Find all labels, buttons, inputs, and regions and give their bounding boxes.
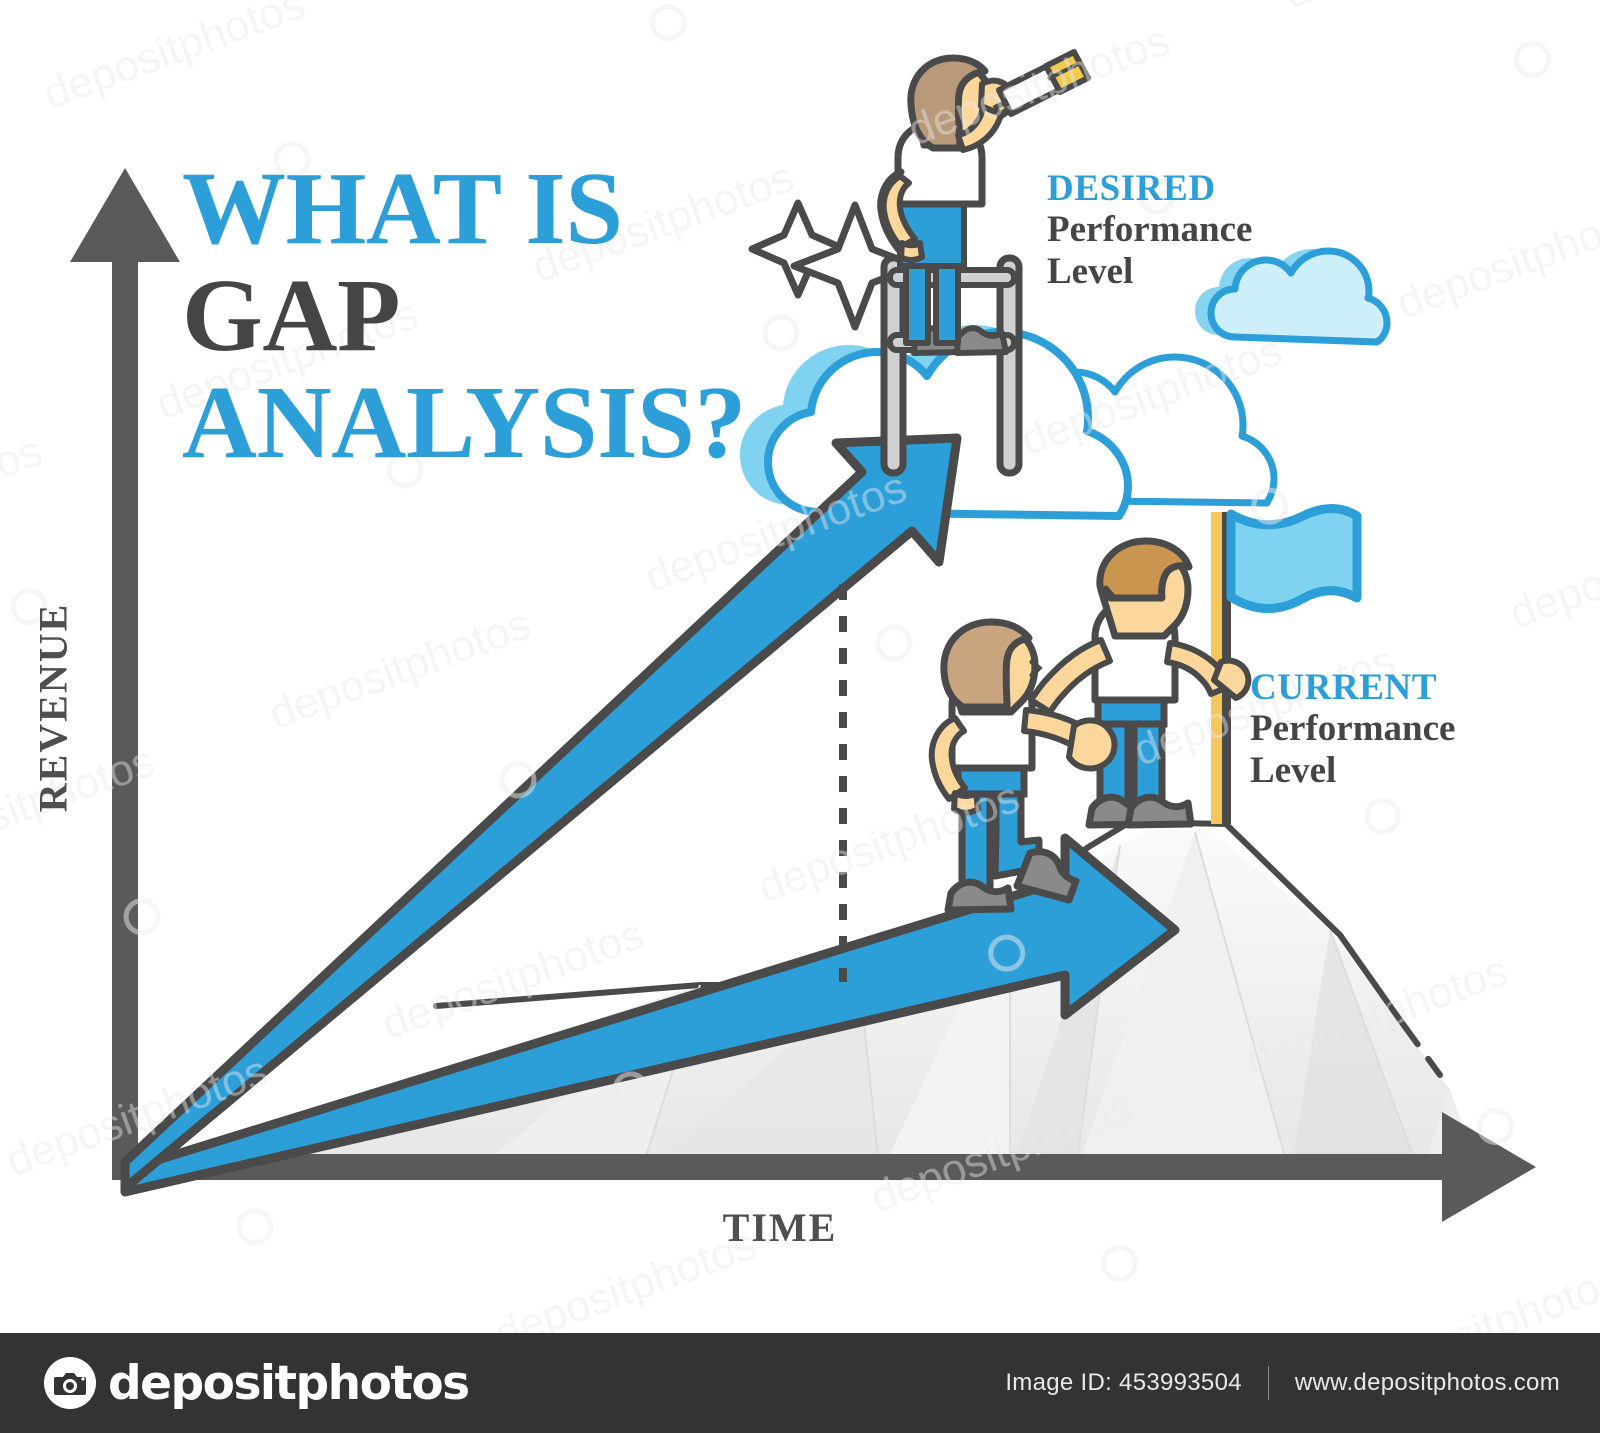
x-axis <box>112 1154 1462 1180</box>
callout-desired-sub-line1: Performance <box>1047 209 1337 250</box>
y-axis <box>112 230 138 1180</box>
footer-website[interactable]: www.depositphotos.com <box>1295 1369 1560 1397</box>
y-axis-arrowhead <box>70 168 180 262</box>
callout-current-sub-line1: Performance <box>1250 708 1540 749</box>
footer-wordmark: depositphotos <box>108 1356 469 1411</box>
title-line-3: ANALYSIS? <box>182 374 802 473</box>
callout-desired: DESIRED Performance Level <box>1047 168 1337 292</box>
callout-desired-sub-line2: Level <box>1047 251 1337 292</box>
title-line-1: WHAT IS <box>182 160 802 259</box>
x-axis-arrowhead <box>1442 1112 1536 1222</box>
footer-bar: depositphotos Image ID: 453993504 www.de… <box>0 1333 1600 1433</box>
footer-divider <box>1268 1366 1269 1400</box>
camera-icon <box>44 1357 96 1409</box>
callout-current-kicker: CURRENT <box>1250 667 1540 708</box>
title-line-2: GAP <box>182 267 802 366</box>
footer-meta: Image ID: 453993504 www.depositphotos.co… <box>1005 1366 1560 1400</box>
x-axis-label: TIME <box>620 1204 940 1251</box>
depositphotos-logo[interactable]: depositphotos <box>44 1356 469 1411</box>
page-title: WHAT IS GAP ANALYSIS? <box>182 160 802 480</box>
y-axis-label: REVENUE <box>30 593 77 823</box>
telescope <box>996 52 1088 114</box>
footer-image-id: Image ID: 453993504 <box>1005 1369 1242 1397</box>
infographic-canvas: depositphotos <box>0 0 1600 1433</box>
callout-current: CURRENT Performance Level <box>1250 667 1540 791</box>
callout-current-sub-line2: Level <box>1250 750 1540 791</box>
callout-desired-kicker: DESIRED <box>1047 168 1337 209</box>
